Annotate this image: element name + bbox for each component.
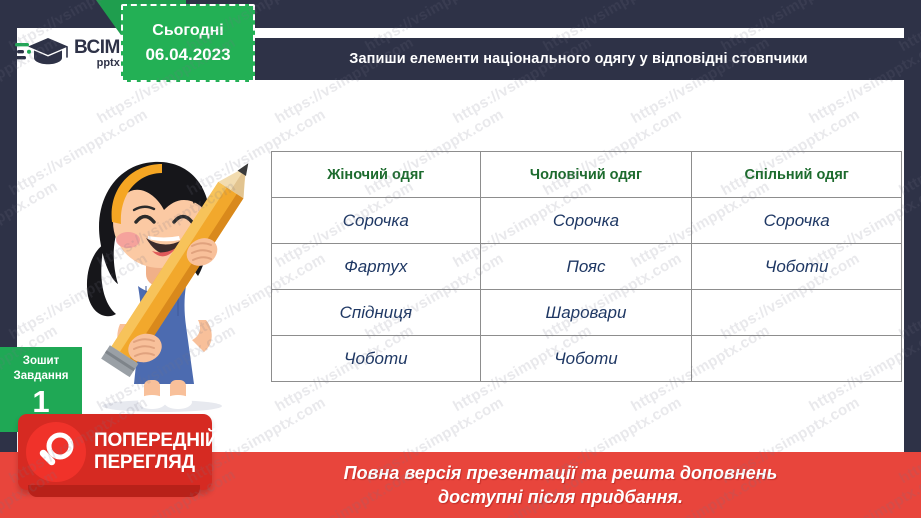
table-cell (692, 336, 902, 382)
table-row: Сорочка Сорочка Сорочка (272, 198, 902, 244)
table-cell: Спідниця (272, 290, 481, 336)
table-cell: Чоботи (272, 336, 481, 382)
logo-name: ВСІМ (74, 38, 120, 57)
brand-logo: ВСІМ pptx (14, 31, 132, 75)
slide-title: Запиши елементи національного одягу у ві… (335, 51, 821, 67)
table-cell: Фартух (272, 244, 481, 290)
table-cell: Пояс (480, 244, 692, 290)
table-header-cell: Чоловічий одяг (480, 152, 692, 198)
today-date-badge: Сьогодні 06.04.2023 (121, 4, 255, 82)
table-cell: Чоботи (480, 336, 692, 382)
preview-badge-line2: ПЕРЕГЛЯД (94, 452, 218, 474)
table-header-cell: Жіночий одяг (272, 152, 481, 198)
purchase-notice-line1: Повна версія презентації та решта доповн… (344, 461, 778, 485)
table-cell: Сорочка (692, 198, 902, 244)
table-header-cell: Спільний одяг (692, 152, 902, 198)
purchase-notice-line2: доступні після придбання. (344, 485, 778, 509)
notebook-task-number: 1 (0, 387, 82, 417)
clothing-classification-table: Жіночий одяг Чоловічий одяг Спільний одя… (271, 151, 902, 382)
table-cell: Шаровари (480, 290, 692, 336)
table-header-row: Жіночий одяг Чоловічий одяг Спільний одя… (272, 152, 902, 198)
notebook-tag-line2: Завдання (0, 369, 82, 384)
purchase-notice-text: Повна версія презентації та решта доповн… (144, 461, 778, 509)
today-label: Сьогодні (152, 22, 223, 40)
graduation-cap-icon (14, 35, 70, 71)
slide-root: ВСІМ pptx Сьогодні 06.04.2023 Запиши еле… (0, 0, 921, 518)
preview-badge-line1: ПОПЕРЕДНІЙ (94, 430, 218, 452)
table-cell: Сорочка (272, 198, 481, 244)
table-row: Фартух Пояс Чоботи (272, 244, 902, 290)
slide-header-bar: Запиши елементи національного одягу у ві… (253, 38, 904, 80)
table-row: Спідниця Шаровари (272, 290, 902, 336)
preview-badge[interactable]: ПОПЕРЕДНІЙ ПЕРЕГЛЯД (18, 414, 212, 490)
table-cell: Сорочка (480, 198, 692, 244)
notebook-tag-line1: Зошит (0, 354, 82, 369)
table-cell: Чоботи (692, 244, 902, 290)
table-row: Чоботи Чоботи (272, 336, 902, 382)
table-cell (692, 290, 902, 336)
logo-subtitle: pptx (97, 58, 120, 69)
today-date-value: 06.04.2023 (145, 45, 230, 65)
magnifier-icon (26, 422, 86, 482)
